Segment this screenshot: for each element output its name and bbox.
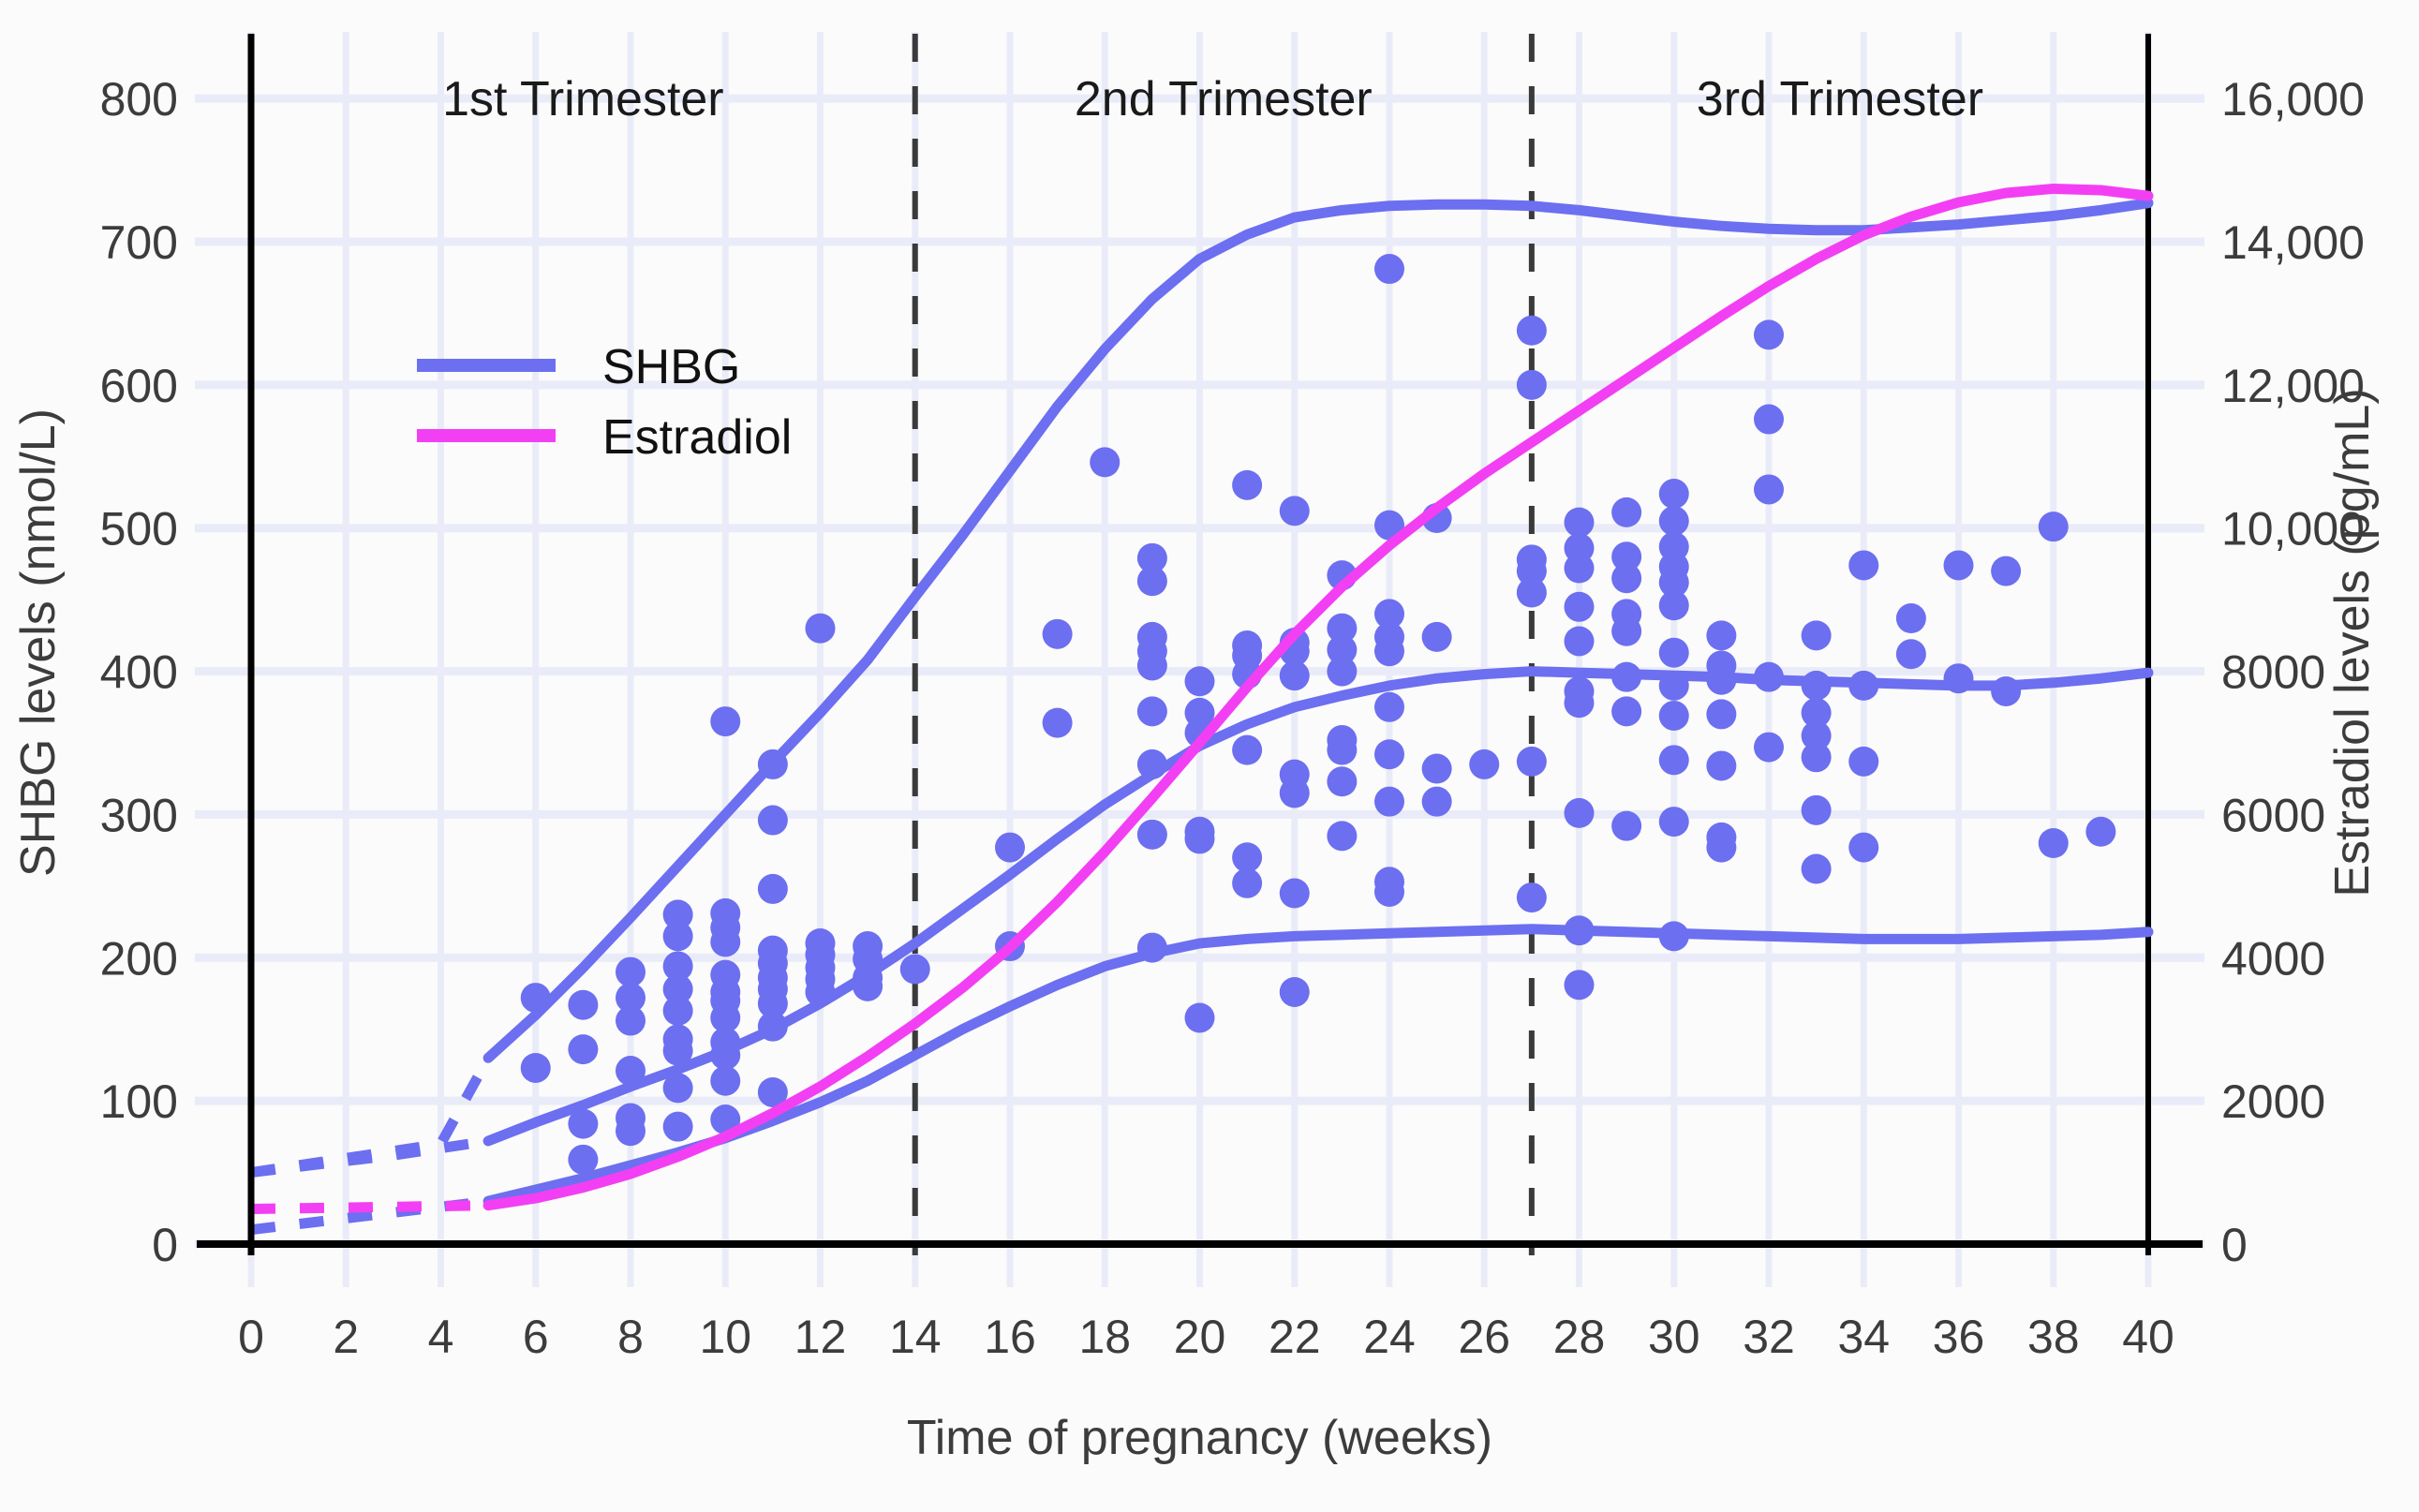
- scatter-point: [1802, 742, 1832, 772]
- y-tick-label: 800: [100, 73, 178, 126]
- scatter-point: [1659, 745, 1689, 775]
- scatter-point: [1280, 496, 1310, 526]
- chart-canvas: 0246810121416182022242628303234363840 01…: [0, 0, 2419, 1512]
- scatter-point: [663, 921, 693, 951]
- x-tick-label: 26: [1458, 1311, 1510, 1363]
- scatter-point: [2039, 511, 2069, 541]
- scatter-point: [1374, 877, 1404, 907]
- x-tick-label: 30: [1648, 1311, 1700, 1363]
- y2-tick-label: 14,000: [2221, 216, 2365, 269]
- scatter-point: [1565, 970, 1595, 1000]
- scatter-point: [1280, 879, 1310, 909]
- scatter-point: [1611, 616, 1641, 646]
- legend-label-shbg: SHBG: [602, 340, 740, 394]
- legend-label-estradiol: Estradiol: [602, 410, 792, 465]
- scatter-point: [1706, 750, 1736, 780]
- scatter-point: [1659, 807, 1689, 837]
- scatter-point: [1944, 550, 1974, 580]
- scatter-point: [1137, 696, 1167, 726]
- scatter-point: [1185, 1002, 1215, 1032]
- x-tick-label: 38: [2027, 1311, 2080, 1363]
- x-axis-ticks: 0246810121416182022242628303234363840: [238, 1311, 2174, 1363]
- scatter-point: [1517, 747, 1547, 777]
- y2-tick-label: 4000: [2221, 932, 2325, 985]
- scatter-point: [1374, 254, 1404, 284]
- scatter-point: [758, 874, 788, 904]
- x-tick-label: 16: [984, 1311, 1036, 1363]
- y-axis-left-title: SHBG levels (nmol/L): [11, 408, 66, 877]
- scatter-point: [1802, 795, 1832, 825]
- scatter-point: [1232, 470, 1262, 500]
- scatter-point: [1422, 754, 1452, 784]
- scatter-point: [1896, 603, 1926, 633]
- scatter-point: [1280, 660, 1310, 690]
- x-tick-label: 14: [889, 1311, 942, 1363]
- scatter-point: [1469, 749, 1499, 779]
- y2-tick-label: 16,000: [2221, 73, 2365, 126]
- x-tick-label: 8: [617, 1311, 644, 1363]
- scatter-point: [1611, 563, 1641, 593]
- shbg-estradiol-pregnancy-chart: 0246810121416182022242628303234363840 01…: [0, 0, 2419, 1512]
- y-tick-label: 700: [100, 216, 178, 269]
- scatter-point: [616, 1006, 646, 1036]
- scatter-point: [1896, 639, 1926, 669]
- y-tick-label: 200: [100, 932, 178, 985]
- scatter-point: [1848, 833, 1878, 863]
- scatter-point: [1754, 405, 1784, 435]
- scatter-point: [1280, 977, 1310, 1007]
- y-axis-left-ticks: 0100200300400500600700800: [100, 73, 178, 1271]
- scatter-point: [663, 996, 693, 1026]
- scatter-point: [1374, 636, 1404, 666]
- y2-tick-label: 8000: [2221, 646, 2325, 699]
- scatter-point: [1137, 820, 1167, 850]
- scatter-point: [1565, 508, 1595, 538]
- trimester-label: 2nd Trimester: [1075, 72, 1373, 126]
- scatter-point: [1754, 733, 1784, 763]
- y-tick-label: 0: [152, 1219, 178, 1271]
- y-tick-label: 100: [100, 1075, 178, 1128]
- scatter-point: [1232, 868, 1262, 898]
- scatter-point: [1611, 811, 1641, 841]
- trimester-label: 3rd Trimester: [1697, 72, 1983, 126]
- scatter-point: [710, 926, 740, 956]
- scatter-point: [1374, 739, 1404, 769]
- x-tick-label: 12: [794, 1311, 847, 1363]
- scatter-point: [1659, 590, 1689, 620]
- x-tick-label: 4: [428, 1311, 454, 1363]
- scatter-point: [806, 614, 836, 644]
- scatter-point: [1659, 701, 1689, 731]
- scatter-point: [1090, 447, 1120, 477]
- y2-tick-label: 6000: [2221, 789, 2325, 841]
- x-tick-label: 6: [523, 1311, 549, 1363]
- scatter-point: [1280, 778, 1310, 808]
- scatter-point: [2085, 817, 2115, 847]
- scatter-point: [1565, 688, 1595, 718]
- y2-tick-label: 2000: [2221, 1075, 2325, 1128]
- x-tick-label: 0: [238, 1311, 264, 1363]
- scatter-point: [1517, 370, 1547, 400]
- x-tick-label: 36: [1933, 1311, 1985, 1363]
- scatter-point: [1327, 657, 1357, 687]
- scatter-point: [1565, 592, 1595, 622]
- x-tick-label: 20: [1174, 1311, 1226, 1363]
- scatter-point: [521, 1053, 551, 1083]
- scatter-point: [1043, 619, 1073, 649]
- scatter-point: [1802, 620, 1832, 650]
- scatter-point: [1611, 497, 1641, 527]
- scatter-point: [2039, 828, 2069, 858]
- scatter-point: [1659, 479, 1689, 509]
- scatter-point: [1706, 620, 1736, 650]
- scatter-point: [616, 957, 646, 987]
- scatter-point: [1374, 692, 1404, 722]
- scatter-point: [1848, 747, 1878, 777]
- scatter-point: [1422, 622, 1452, 652]
- y-tick-label: 600: [100, 360, 178, 412]
- scatter-point: [710, 706, 740, 736]
- y-tick-label: 400: [100, 646, 178, 699]
- x-tick-label: 10: [699, 1311, 751, 1363]
- scatter-point: [1802, 854, 1832, 884]
- scatter-point: [710, 1066, 740, 1096]
- x-tick-label: 34: [1837, 1311, 1890, 1363]
- scatter-point: [1611, 696, 1641, 726]
- scatter-point: [1043, 708, 1073, 738]
- scatter-point: [1659, 638, 1689, 668]
- x-tick-label: 24: [1363, 1311, 1416, 1363]
- scatter-point: [1991, 556, 2021, 586]
- scatter-point: [1517, 882, 1547, 912]
- x-tick-label: 28: [1553, 1311, 1606, 1363]
- scatter-point: [568, 1034, 598, 1064]
- x-axis-title: Time of pregnancy (weeks): [907, 1411, 1492, 1465]
- scatter-point: [1137, 566, 1167, 596]
- scatter-point: [663, 1112, 693, 1142]
- scatter-point: [1232, 735, 1262, 765]
- scatter-point: [1706, 833, 1736, 863]
- scatter-point: [568, 990, 598, 1020]
- scatter-point: [900, 955, 930, 985]
- scatter-point: [1185, 823, 1215, 853]
- y-tick-label: 500: [100, 503, 178, 556]
- scatter-point: [1565, 798, 1595, 828]
- scatter-point: [1706, 699, 1736, 729]
- scatter-point: [1374, 787, 1404, 817]
- scatter-point: [1754, 474, 1784, 504]
- trimester-label: 1st Trimester: [442, 72, 724, 126]
- scatter-point: [1185, 666, 1215, 696]
- scatter-point: [1327, 821, 1357, 851]
- scatter-point: [1565, 626, 1595, 656]
- scatter-point: [1422, 787, 1452, 817]
- scatter-point: [995, 833, 1025, 863]
- x-tick-label: 18: [1078, 1311, 1131, 1363]
- scatter-point: [1327, 735, 1357, 765]
- y-axis-right-title: Estradiol levels (pg/mL): [2325, 388, 2380, 897]
- scatter-point: [616, 1116, 646, 1146]
- scatter-point: [758, 806, 788, 836]
- scatter-point: [1232, 842, 1262, 872]
- x-tick-label: 2: [333, 1311, 359, 1363]
- scatter-point: [1327, 766, 1357, 796]
- x-tick-label: 32: [1743, 1311, 1795, 1363]
- scatter-point: [1137, 650, 1167, 680]
- scatter-point: [1517, 316, 1547, 346]
- x-tick-label: 40: [2122, 1311, 2174, 1363]
- scatter-point: [1659, 506, 1689, 536]
- x-tick-label: 22: [1269, 1311, 1321, 1363]
- y-tick-label: 300: [100, 789, 178, 841]
- scatter-point: [1848, 550, 1878, 580]
- scatter-point: [1517, 578, 1547, 608]
- y2-tick-label: 0: [2221, 1219, 2248, 1271]
- trimester-labels: 1st Trimester2nd Trimester3rd Trimester: [442, 72, 1983, 126]
- scatter-point: [1754, 319, 1784, 349]
- scatter-point: [1565, 554, 1595, 584]
